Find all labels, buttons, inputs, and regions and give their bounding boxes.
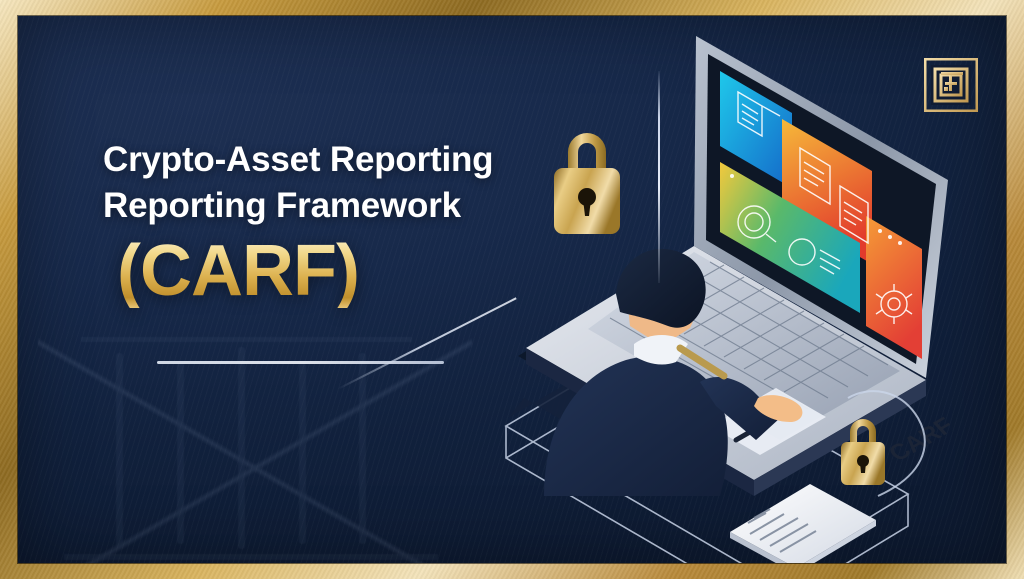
gt-monogram-logo [924,58,978,112]
padlock-shackle-small [850,419,876,445]
gold-frame: Crypto-Asset Reporting Reporting Framewo… [0,0,1024,579]
decorative-vertical-divider [658,71,660,283]
padlock-small-icon [836,411,890,487]
page-acronym: (CARF) [117,234,573,308]
page-title-line-1: Crypto-Asset Reporting [103,138,573,182]
background-architecture-texture [38,322,473,563]
padlock-shackle [568,133,606,172]
headline-block: Crypto-Asset Reporting Reporting Framewo… [103,138,573,308]
title-underline-rule [157,361,444,364]
page-title-line-2: Reporting Framework [103,184,573,228]
banner-stage: Crypto-Asset Reporting Reporting Framewo… [18,16,1006,563]
